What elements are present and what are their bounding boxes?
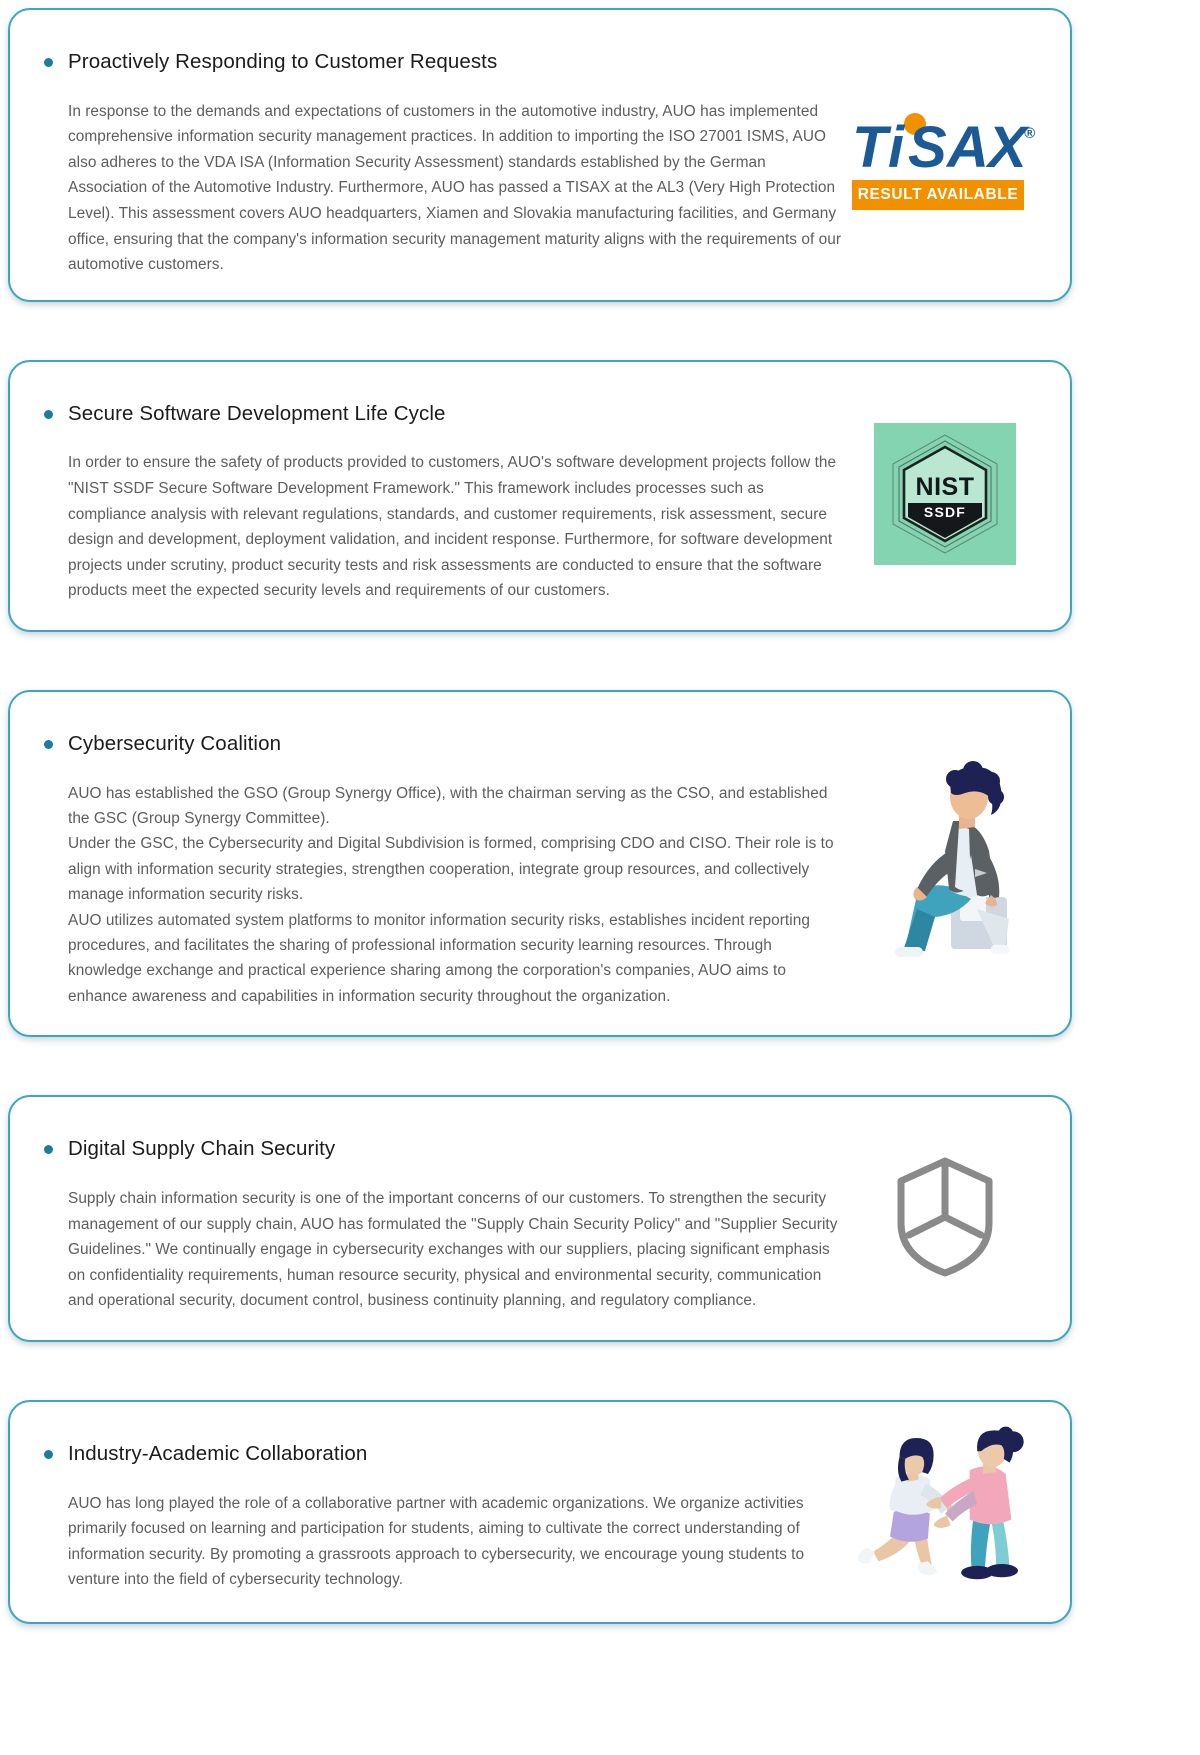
svg-text:®: ® <box>1024 125 1036 142</box>
section-heading: Secure Software Development Life Cycle <box>68 401 446 428</box>
section-card-industry-academic-collaboration: Industry-Academic Collaboration AUO has … <box>8 1400 1072 1624</box>
section-text-column: Cybersecurity Coalition AUO has establis… <box>44 714 844 1009</box>
svg-text:SSDF: SSDF <box>924 504 966 520</box>
section-artwork-column: NIST SSDF <box>854 384 1036 604</box>
section-card-secure-software-development: Secure Software Development Life Cycle I… <box>8 360 1072 632</box>
section-heading-row: Industry-Academic Collaboration <box>44 1424 844 1485</box>
tisax-logo: T i S A X ® RESULT AVAILABLE <box>852 112 1038 210</box>
nist-ssdf-badge-icon: NIST SSDF <box>874 423 1016 565</box>
section-heading-row: Cybersecurity Coalition <box>44 714 844 775</box>
section-heading: Industry-Academic Collaboration <box>68 1441 367 1468</box>
section-card-cybersecurity-coalition: Cybersecurity Coalition AUO has establis… <box>8 690 1072 1037</box>
section-text-column: Digital Supply Chain Security Supply cha… <box>44 1119 844 1314</box>
svg-text:A: A <box>945 115 988 174</box>
two-people-illustration-icon <box>854 1424 1036 1596</box>
section-heading-row: Proactively Responding to Customer Reque… <box>44 32 844 93</box>
bullet-dot-icon <box>44 740 53 749</box>
svg-text:NIST: NIST <box>916 473 975 501</box>
section-body-text: AUO has long played the role of a collab… <box>44 1491 844 1593</box>
svg-text:T: T <box>852 115 892 174</box>
section-artwork-column <box>854 714 1036 1009</box>
section-heading-row: Digital Supply Chain Security <box>44 1119 844 1180</box>
svg-text:i: i <box>888 115 906 174</box>
section-body-text: Supply chain information security is one… <box>44 1186 844 1314</box>
bullet-dot-icon <box>44 1145 53 1154</box>
section-card-digital-supply-chain-security: Digital Supply Chain Security Supply cha… <box>8 1095 1072 1342</box>
section-heading: Proactively Responding to Customer Reque… <box>68 49 497 76</box>
section-artwork-column <box>854 1424 1036 1596</box>
section-heading: Cybersecurity Coalition <box>68 731 281 758</box>
section-text-column: Proactively Responding to Customer Reque… <box>44 32 844 278</box>
section-body-text: In order to ensure the safety of product… <box>44 450 844 604</box>
section-body-text: AUO has established the GSO (Group Syner… <box>44 781 844 1010</box>
section-heading-row: Secure Software Development Life Cycle <box>44 384 844 445</box>
bullet-dot-icon <box>44 1450 53 1459</box>
svg-text:X: X <box>985 115 1030 174</box>
section-heading: Digital Supply Chain Security <box>68 1136 335 1163</box>
section-artwork-column <box>854 1119 1036 1314</box>
bullet-dot-icon <box>44 410 53 419</box>
security-sections-page: Proactively Responding to Customer Reque… <box>0 0 1200 1755</box>
tisax-result-banner: RESULT AVAILABLE <box>852 180 1024 210</box>
tisax-wordmark-icon: T i S A X ® <box>852 112 1038 174</box>
section-card-proactively-responding: Proactively Responding to Customer Reque… <box>8 8 1072 302</box>
bullet-dot-icon <box>44 58 53 67</box>
section-text-column: Industry-Academic Collaboration AUO has … <box>44 1424 844 1593</box>
svg-text:S: S <box>908 115 947 174</box>
section-artwork-column: T i S A X ® RESULT AVAILABLE <box>854 32 1036 278</box>
section-body-text: In response to the demands and expectati… <box>44 99 844 278</box>
seated-person-illustration-icon <box>859 759 1031 965</box>
section-text-column: Secure Software Development Life Cycle I… <box>44 384 844 604</box>
shield-icon <box>893 1155 997 1279</box>
